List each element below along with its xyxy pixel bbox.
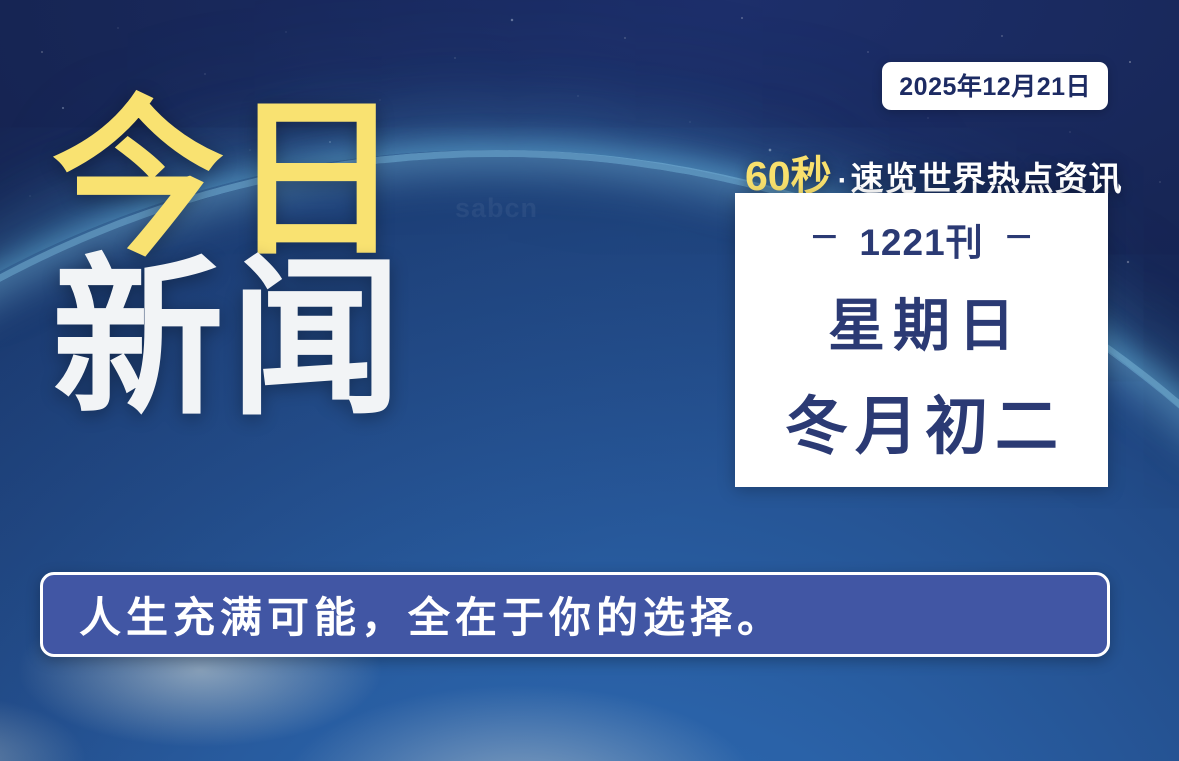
weekday-label: 星期日 bbox=[820, 280, 1023, 362]
page-title-line-2: 新闻 bbox=[52, 255, 408, 424]
dash-right-icon: － bbox=[1004, 224, 1034, 254]
issue-number: 1221刊 bbox=[859, 212, 983, 266]
lunar-date-label: 冬月初二 bbox=[778, 376, 1065, 467]
page-title-line-1: 今日 bbox=[52, 96, 408, 265]
date-badge: 2025年12月21日 bbox=[882, 62, 1108, 110]
issue-row: － 1221刊 － bbox=[809, 212, 1033, 266]
quote-bar: 人生充满可能，全在于你的选择。 bbox=[40, 572, 1110, 657]
info-card: － 1221刊 － 星期日 冬月初二 bbox=[735, 193, 1108, 487]
watermark-text: sabcn bbox=[455, 193, 538, 224]
quote-text: 人生充满可能，全在于你的选择。 bbox=[43, 584, 784, 645]
dash-left-icon: － bbox=[809, 224, 839, 254]
page-title: 今日 新闻 bbox=[52, 96, 408, 423]
news-poster: sabcn 今日 新闻 2025年12月21日 60秒 · 速览世界热点资讯 －… bbox=[0, 0, 1179, 761]
